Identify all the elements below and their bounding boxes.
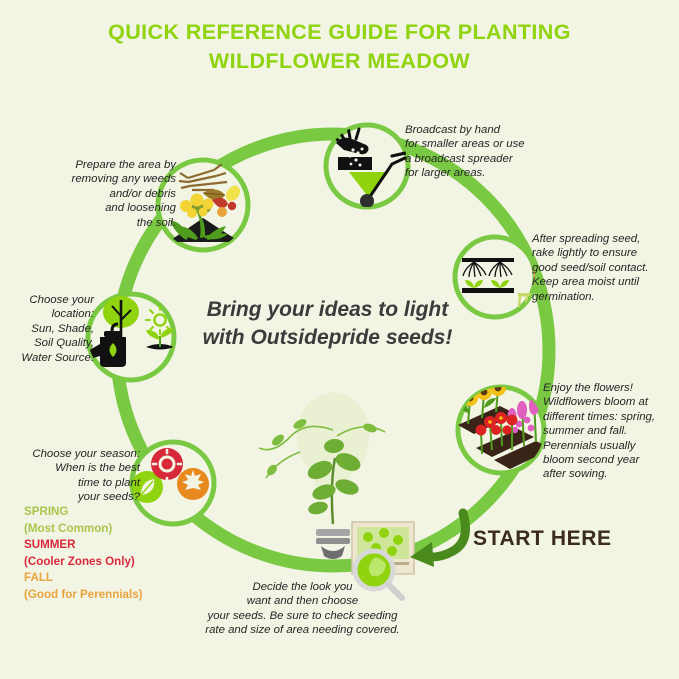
caption-broadcast-seed: Broadcast by hand for smaller areas or u… [405,123,555,181]
caption-prepare-area: Prepare the area by removing any weeds a… [48,158,176,230]
infographic-canvas: QUICK REFERENCE GUIDE FOR PLANTING WILDF… [0,0,679,679]
season-summer-note: (Cooler Zones Only) [24,554,189,571]
start-here-label: START HERE [473,527,612,551]
season-fall-name: FALL [24,570,189,587]
season-fall-note: (Good for Perennials) [24,587,189,604]
season-summer-name: SUMMER [24,537,189,554]
node-choose-location[interactable] [86,294,174,380]
season-spring-note: (Most Common) [24,521,189,538]
season-spring-name: SPRING [24,504,189,521]
caption-enjoy-flowers: Enjoy the flowers! Wildflowers bloom at … [543,381,679,482]
caption-choose-season: Choose your season: When is the best tim… [12,447,140,505]
center-slogan: Bring your ideas to light with Outsidepr… [185,296,470,352]
season-legend: SPRING (Most Common) SUMMER (Cooler Zone… [24,504,189,604]
caption-decide-look: Decide the look you want and then choose… [180,580,425,638]
node-broadcast-seed[interactable] [326,125,410,208]
caption-rake-and-water: After spreading seed, rake lightly to en… [532,232,679,304]
caption-choose-location: Choose your location: Sun, Shade, Soil Q… [4,293,94,365]
